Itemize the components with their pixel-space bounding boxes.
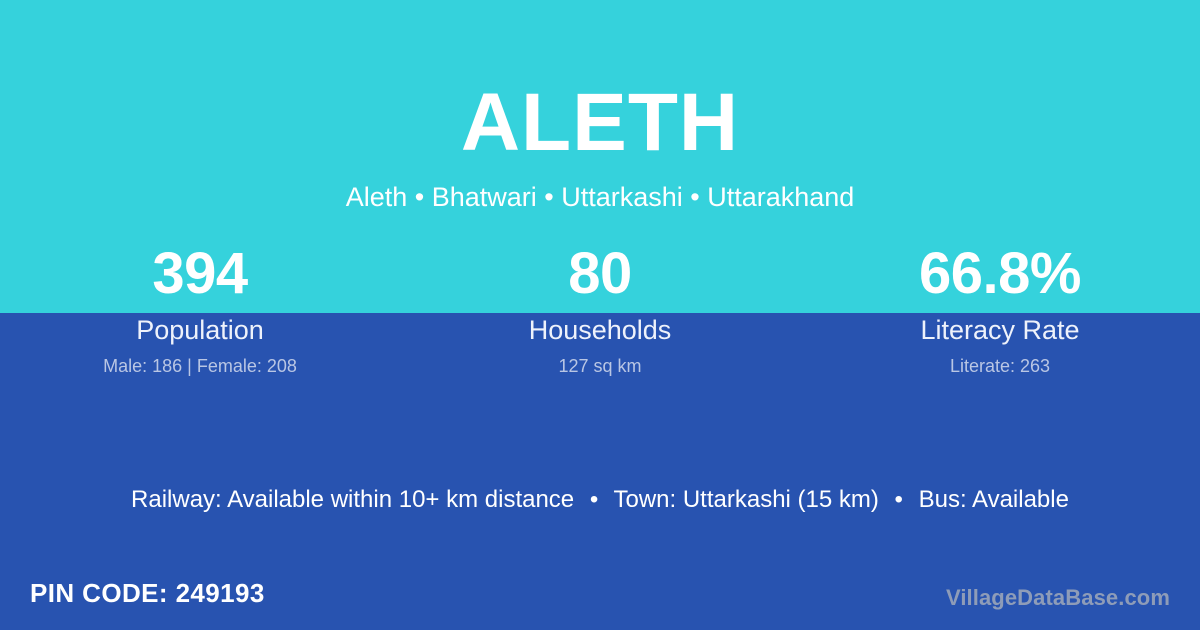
stat-literacy-rate: 66.8% Literacy Rate Literate: 263 <box>800 243 1200 378</box>
stat-sub-households: 127 sq km <box>400 356 800 378</box>
stat-label-households: Households <box>400 314 800 346</box>
amenity-railway: Railway: Available within 10+ km distanc… <box>131 486 574 513</box>
page-title: ALETH <box>0 82 1200 164</box>
stat-label-population: Population <box>0 314 400 346</box>
stat-value-literacy-rate: 66.8% <box>800 243 1200 310</box>
stat-population: 394 Population Male: 186 | Female: 208 <box>0 243 400 378</box>
village-info-card: ALETH Aleth • Bhatwari • Uttarkashi • Ut… <box>0 0 1200 630</box>
stat-label-literacy-rate: Literacy Rate <box>800 314 1200 346</box>
stat-value-population: 394 <box>0 243 400 310</box>
stat-value-households: 80 <box>400 243 800 310</box>
amenity-separator-2: • <box>886 486 912 513</box>
amenities-line: Railway: Available within 10+ km distanc… <box>0 484 1200 515</box>
amenity-town: Town: Uttarkashi (15 km) <box>613 486 878 513</box>
amenity-bus: Bus: Available <box>919 486 1069 513</box>
pin-code-label: PIN CODE: 249193 <box>30 578 265 609</box>
stat-sub-population: Male: 186 | Female: 208 <box>0 356 400 378</box>
stat-households: 80 Households 127 sq km <box>400 243 800 378</box>
stat-sub-literacy-rate: Literate: 263 <box>800 356 1200 378</box>
site-brand-watermark: VillageDataBase.com <box>946 585 1170 611</box>
breadcrumb: Aleth • Bhatwari • Uttarkashi • Uttarakh… <box>0 183 1200 213</box>
stats-row: 394 Population Male: 186 | Female: 208 8… <box>0 243 1200 378</box>
card-footer: PIN CODE: 249193 VillageDataBase.com <box>0 570 1200 630</box>
card-header: ALETH Aleth • Bhatwari • Uttarkashi • Ut… <box>0 0 1200 232</box>
amenity-separator-1: • <box>581 486 607 513</box>
